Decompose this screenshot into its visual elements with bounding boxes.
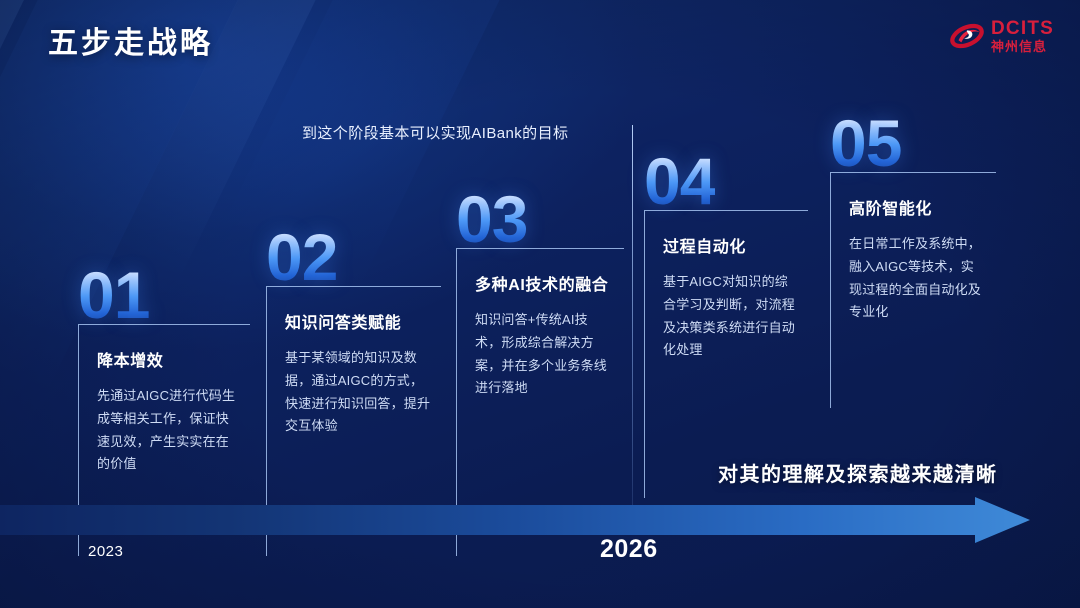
- logo-english-name: DCITS: [991, 19, 1054, 38]
- step-card: 高阶智能化 在日常工作及系统中，融入AIGC等技术，实现过程的全面自动化及专业化: [830, 172, 996, 408]
- step-body: 基于某领域的知识及数据，通过AIGC的方式，快速进行知识回答，提升交互体验: [285, 347, 431, 438]
- timeline-year-end: 2026: [600, 535, 658, 564]
- step-title: 知识问答类赋能: [285, 309, 431, 333]
- step-card: 过程自动化 基于AIGC对知识的综合学习及判断，对流程及决策类系统进行自动化处理: [644, 210, 808, 498]
- step-body: 基于AIGC对知识的综合学习及判断，对流程及决策类系统进行自动化处理: [663, 271, 798, 362]
- step-body: 先通过AIGC进行代码生成等相关工作，保证快速见效，产生实实在在的价值: [97, 385, 240, 476]
- aibank-annotation: 到这个阶段基本可以实现AIBank的目标: [302, 122, 568, 143]
- step-title: 高阶智能化: [849, 195, 986, 219]
- right-arrow-icon: [0, 497, 1080, 543]
- step-body: 在日常工作及系统中，融入AIGC等技术，实现过程的全面自动化及专业化: [849, 233, 986, 324]
- step-number: 04: [644, 148, 715, 214]
- logo-wordmark: DCITS 神州信息: [991, 19, 1054, 53]
- step-title: 过程自动化: [663, 233, 798, 257]
- slide-title: 五步走战略: [48, 18, 213, 62]
- annotation-leader-line: [632, 125, 633, 510]
- step-number: 03: [456, 186, 527, 252]
- step-number: 02: [266, 224, 337, 290]
- logo-chinese-name: 神州信息: [991, 40, 1054, 53]
- step-number: 01: [78, 262, 149, 328]
- slide-canvas: 五步走战略 DCITS 神州信息 到这个阶段基本可以实现AIBank的目标 01…: [0, 0, 1080, 608]
- company-logo: DCITS 神州信息: [950, 19, 1054, 53]
- dcits-swirl-logo-icon: [950, 21, 984, 51]
- step-number: 05: [830, 110, 901, 176]
- step-body: 知识问答+传统AI技术，形成综合解决方案，并在多个业务条线进行落地: [475, 309, 614, 400]
- timeline-tagline: 对其的理解及探索越来越清晰: [718, 458, 998, 487]
- step-title: 降本增效: [97, 347, 240, 371]
- timeline-year-start: 2023: [88, 543, 123, 560]
- step-title: 多种AI技术的融合: [475, 271, 614, 295]
